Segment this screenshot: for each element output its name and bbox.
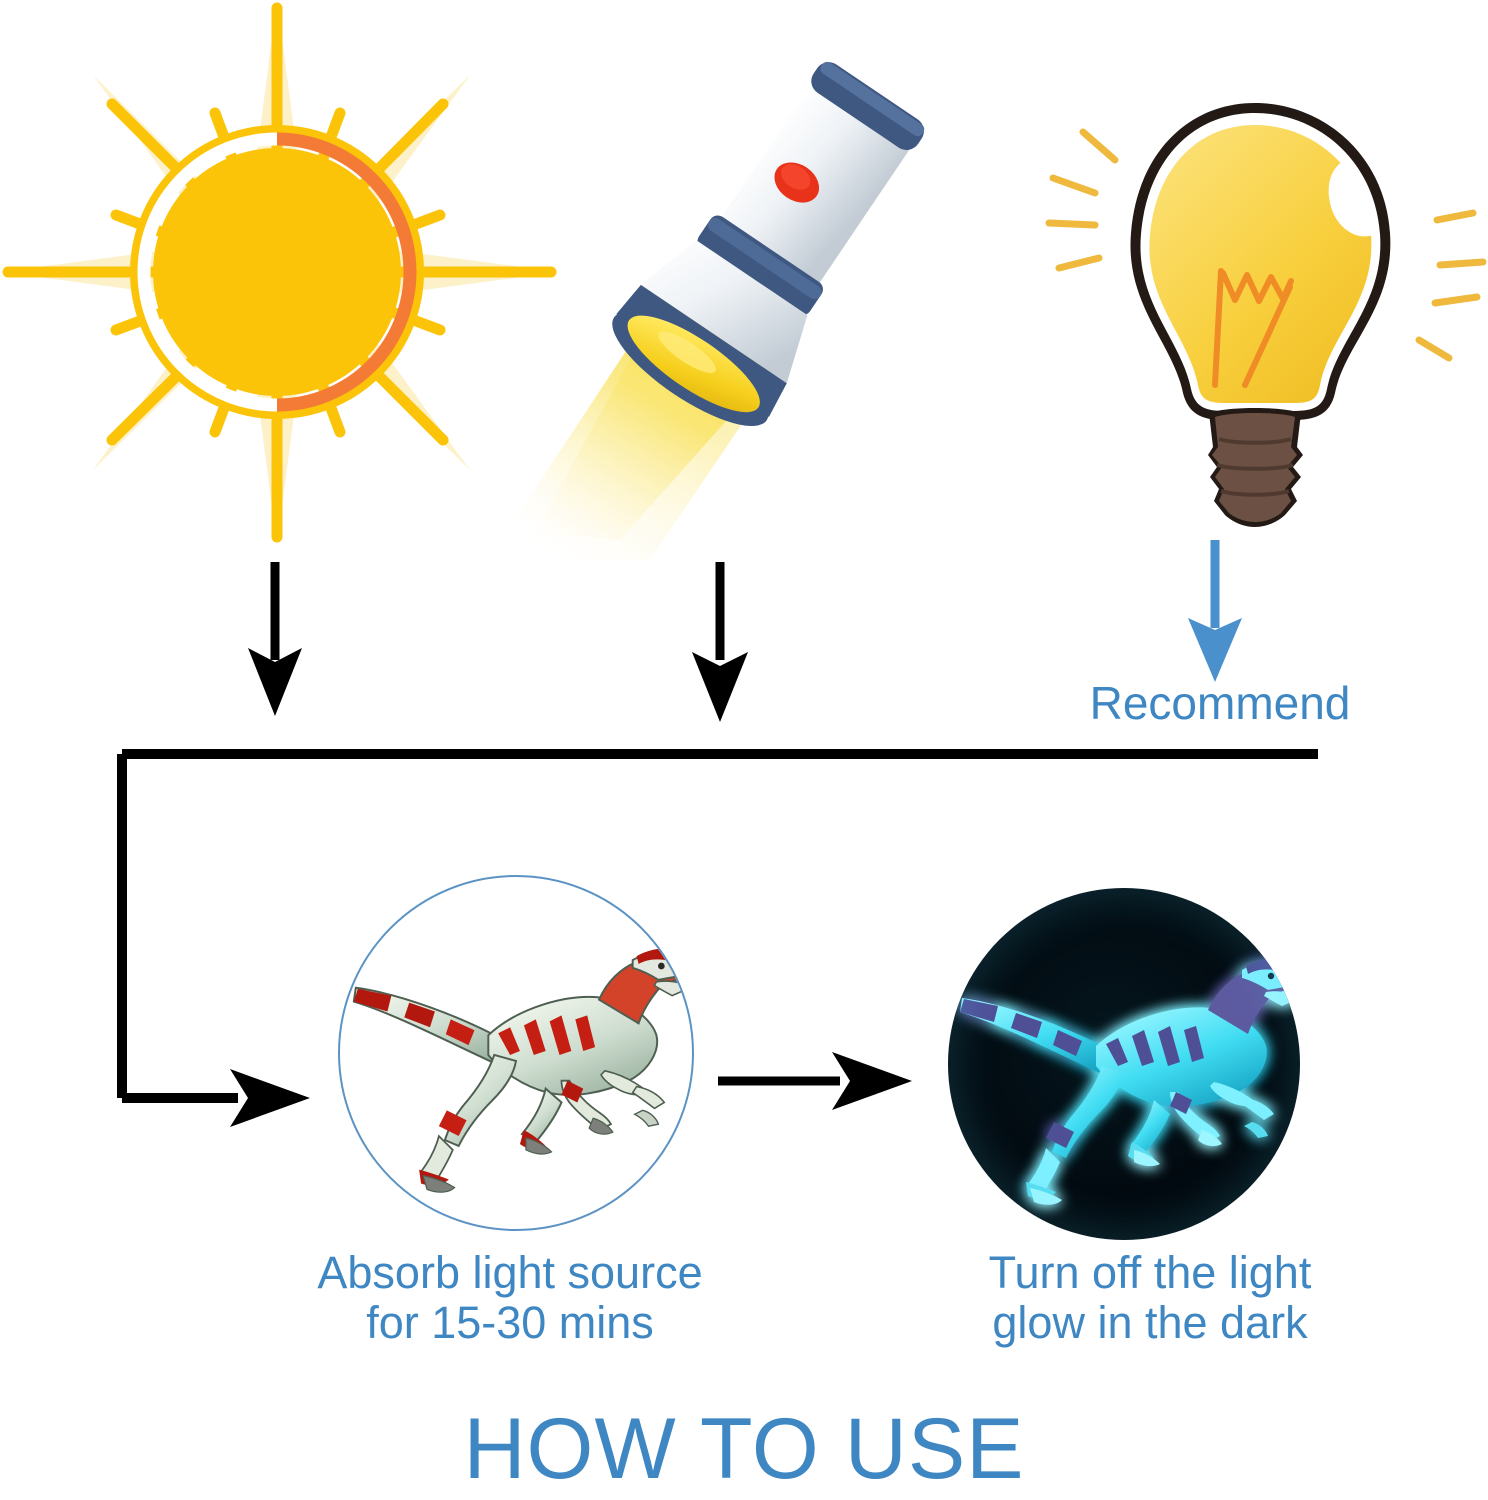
dinosaur-daylight-icon xyxy=(338,875,694,1231)
sun-down-arrow xyxy=(248,562,302,716)
absorb-step-caption: Absorb light source for 15-30 mins xyxy=(250,1248,770,1349)
sun-icon xyxy=(0,0,560,545)
light-bulb-icon xyxy=(1025,75,1488,555)
page-title: HOW TO USE xyxy=(0,1400,1488,1499)
absorb-caption-line1: Absorb light source xyxy=(250,1248,770,1298)
glow-caption-line1: Turn off the light xyxy=(900,1248,1400,1298)
absorb-caption-line2: for 15-30 mins xyxy=(250,1298,770,1348)
bulb-down-arrow xyxy=(1188,540,1242,682)
glow-caption-line2: glow in the dark xyxy=(900,1298,1400,1348)
how-to-use-infographic: Recommend xyxy=(0,0,1488,1500)
flashlight-down-arrow xyxy=(692,562,748,722)
glow-step-caption: Turn off the light glow in the dark xyxy=(900,1248,1400,1349)
recommend-label: Recommend xyxy=(1040,678,1400,730)
step-arrow xyxy=(718,1052,912,1110)
flashlight-icon xyxy=(500,20,1030,560)
dinosaur-glowing-icon xyxy=(948,888,1300,1240)
